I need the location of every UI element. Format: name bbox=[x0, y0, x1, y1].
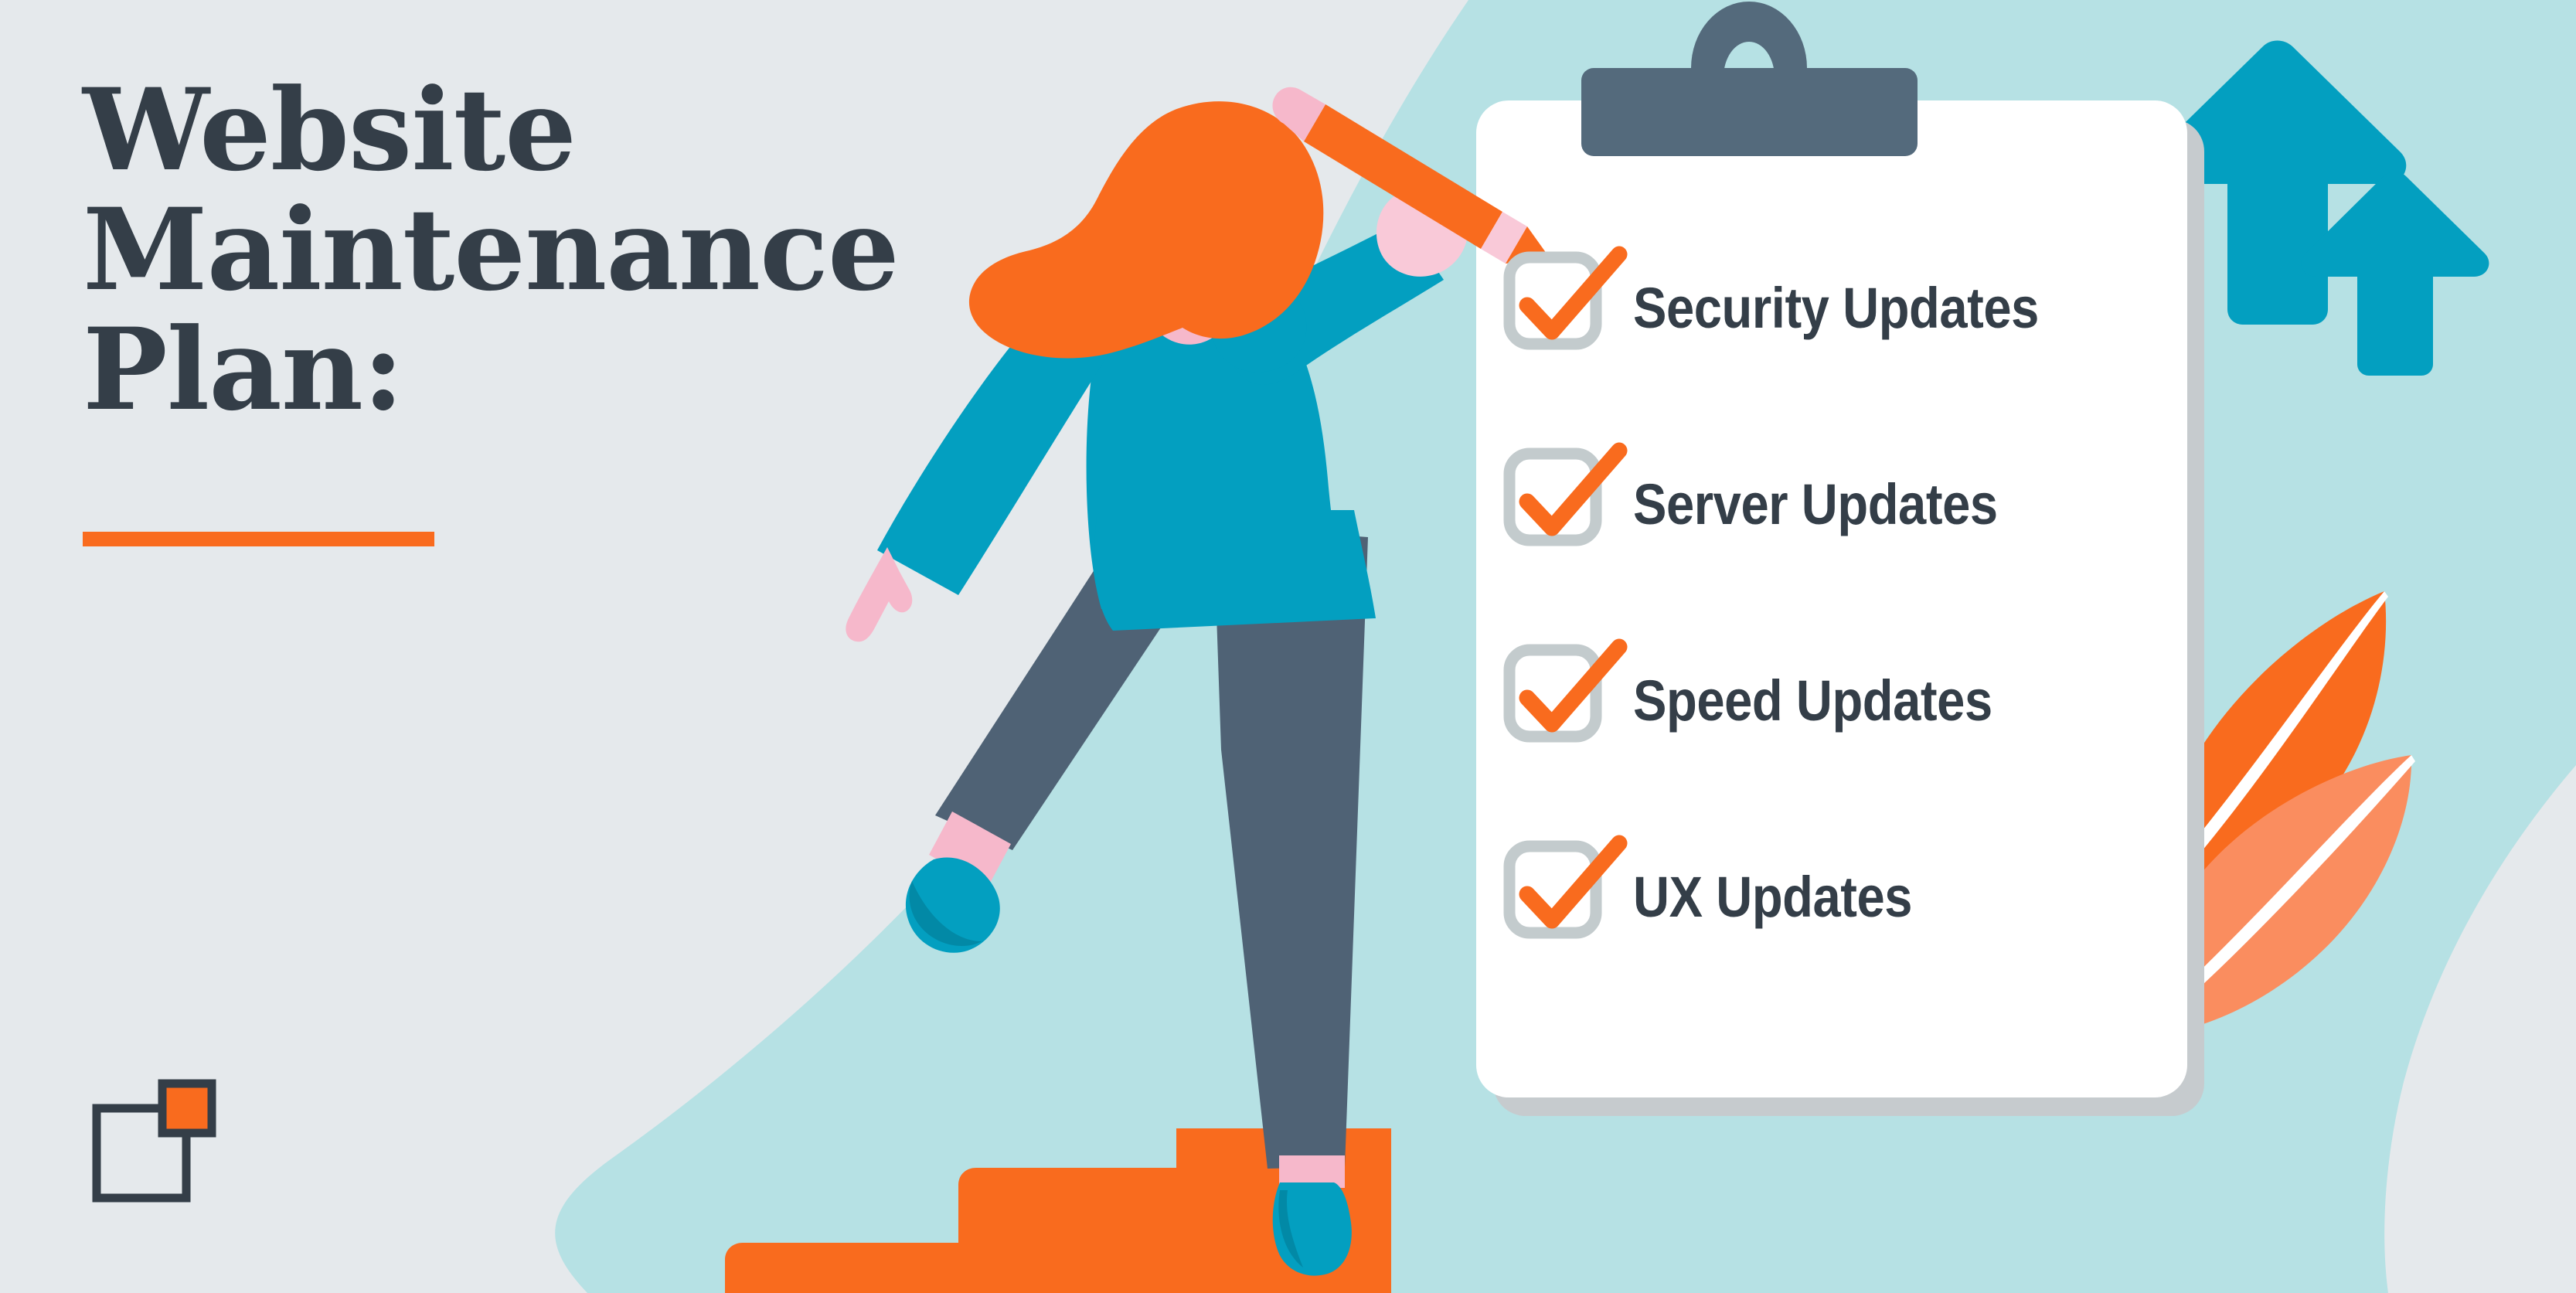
title-line-2: Maintenance bbox=[83, 191, 1049, 311]
page-title: Website Maintenance Plan: bbox=[83, 71, 1049, 430]
checklist-label-speed: Speed Updates bbox=[1633, 672, 1992, 730]
checklist-item-server[interactable]: Server Updates bbox=[1503, 459, 2199, 550]
checklist-label-security: Security Updates bbox=[1633, 280, 2039, 337]
shirt-hem bbox=[1094, 510, 1376, 631]
checklist-item-security[interactable]: Security Updates bbox=[1503, 263, 2199, 354]
poster-canvas: Website Maintenance Plan: Secur bbox=[0, 0, 2576, 1293]
clip-bar bbox=[1581, 68, 1918, 156]
check-mark-icon bbox=[1527, 254, 1619, 332]
two-squares-logo bbox=[83, 1073, 222, 1212]
clipboard-clip-icon bbox=[1523, 0, 1975, 156]
checklist-item-speed[interactable]: Speed Updates bbox=[1503, 655, 2199, 747]
check-mark-icon bbox=[1527, 843, 1619, 920]
check-mark-icon bbox=[1527, 451, 1619, 528]
checklist-label-server: Server Updates bbox=[1633, 476, 1998, 533]
checklist: Security Updates Server Updates Speed Up… bbox=[1503, 263, 2199, 943]
checklist-item-ux[interactable]: UX Updates bbox=[1503, 852, 2199, 943]
checkbox-security[interactable] bbox=[1503, 263, 1594, 354]
checklist-label-ux: UX Updates bbox=[1633, 869, 1912, 926]
title-line-1: Website bbox=[83, 71, 1049, 191]
checkbox-server[interactable] bbox=[1503, 459, 1594, 550]
checkbox-ux[interactable] bbox=[1503, 852, 1594, 943]
title-underline-rule bbox=[83, 532, 434, 546]
title-line-3: Plan: bbox=[83, 311, 1049, 430]
check-mark-icon bbox=[1527, 647, 1619, 724]
logo-orange-square bbox=[162, 1084, 212, 1133]
checkbox-speed[interactable] bbox=[1503, 655, 1594, 747]
